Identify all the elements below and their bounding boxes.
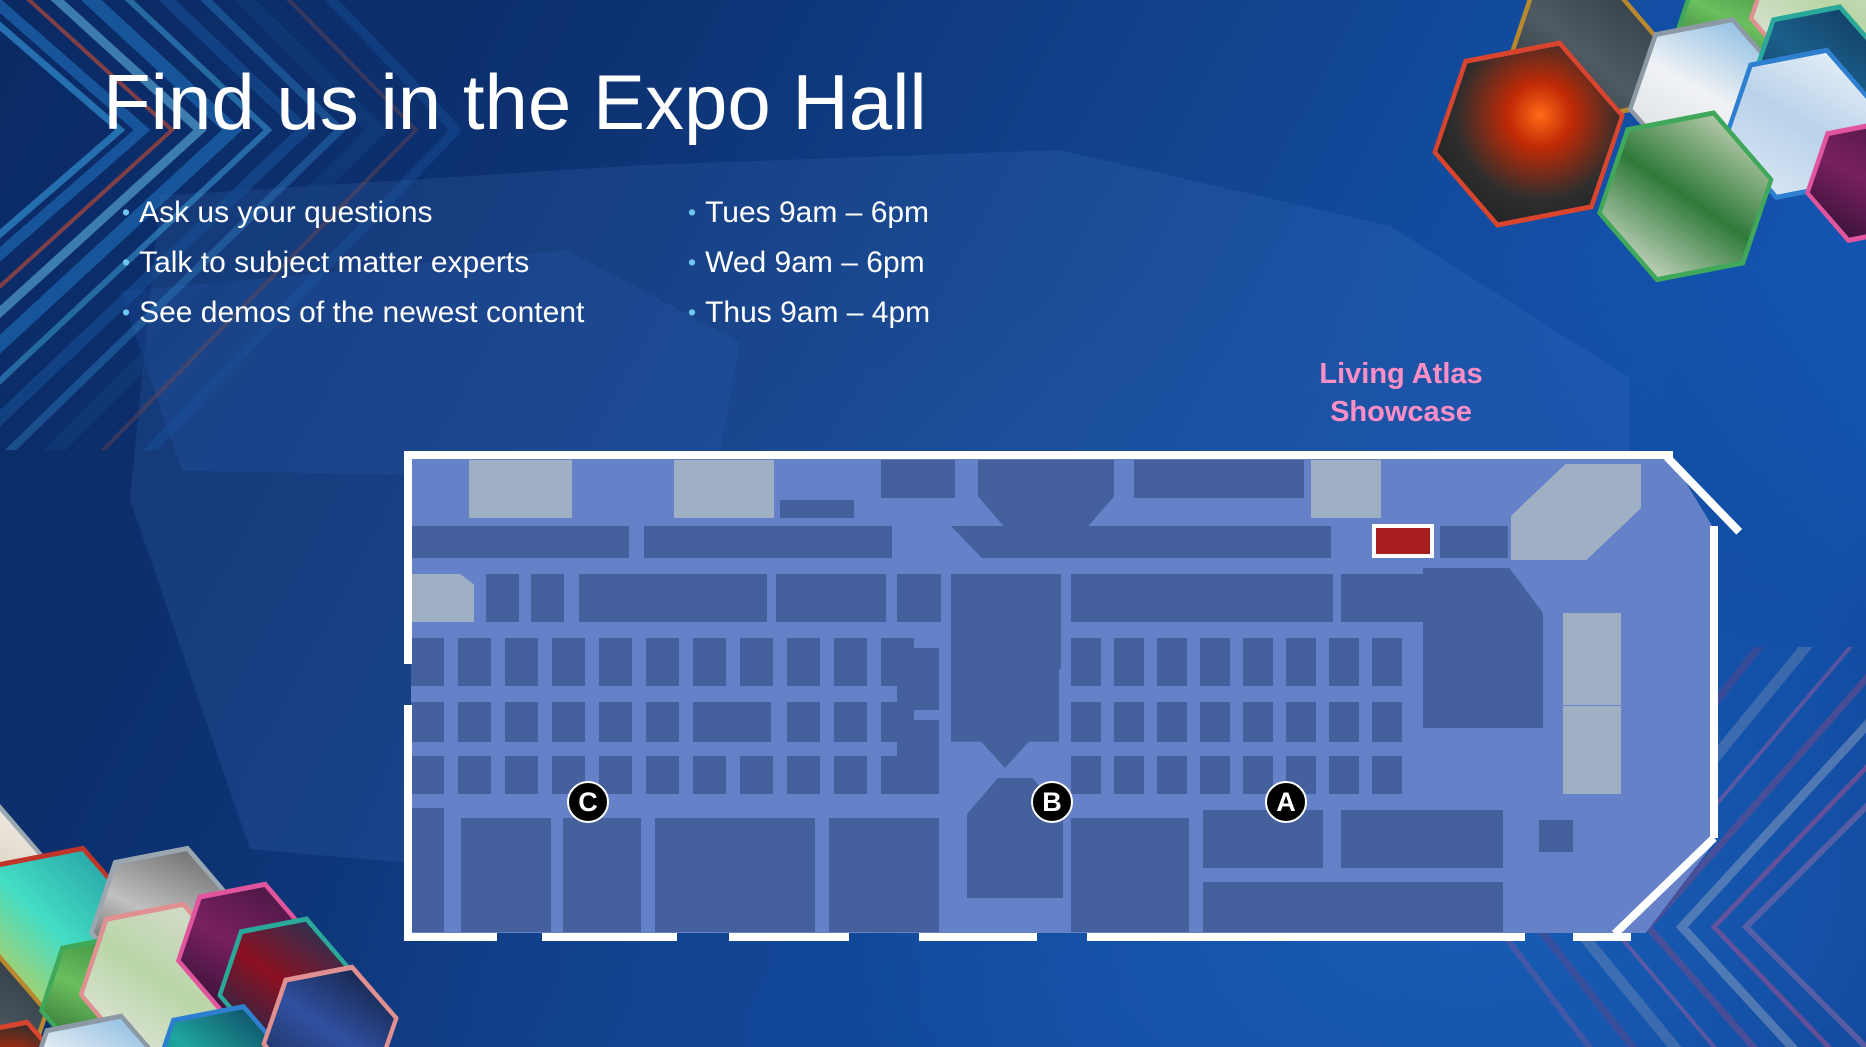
floorplan-booth	[1203, 810, 1323, 868]
list-item: • Talk to subject matter experts	[122, 246, 584, 296]
floorplan-booth	[1157, 638, 1187, 686]
floorplan-booth	[1134, 460, 1304, 498]
floorplan-booth	[1071, 756, 1101, 794]
floorplan-booth	[646, 702, 679, 742]
floorplan-booth	[1059, 526, 1331, 558]
floorplan-wall-bottom-seg-1	[404, 933, 497, 941]
bullet-column-left: • Ask us your questions • Talk to subjec…	[122, 196, 584, 346]
floorplan-booth	[579, 574, 767, 622]
floorplan-booth	[829, 818, 939, 932]
living-atlas-booth-marker[interactable]	[1372, 524, 1434, 558]
floorplan-booth	[834, 702, 867, 742]
floorplan-wall-left-lower	[404, 705, 412, 941]
floorplan-booth	[1440, 526, 1508, 558]
bullet-column-right-hours: • Tues 9am – 6pm • Wed 9am – 6pm • Thus …	[688, 196, 930, 346]
floorplan-booth	[693, 638, 726, 686]
floorplan-booth	[563, 818, 641, 932]
floorplan-booth	[1329, 756, 1359, 794]
floorplan-booth	[787, 756, 820, 794]
entrance-marker-label: B	[1042, 787, 1062, 818]
floorplan-booth	[655, 818, 815, 932]
floorplan-booth	[458, 756, 491, 794]
list-item: • See demos of the newest content	[122, 296, 584, 346]
floorplan-structure	[1563, 613, 1621, 705]
bullet-dot-icon: •	[688, 201, 696, 224]
floorplan-booth	[1329, 702, 1359, 742]
floorplan-booth	[740, 638, 773, 686]
hours-label: Thus 9am – 4pm	[705, 296, 930, 330]
entrance-marker-b[interactable]: B	[1031, 781, 1073, 823]
floorplan-booth	[644, 526, 892, 558]
floorplan-booth	[1071, 702, 1101, 742]
floorplan-wall-right	[1710, 526, 1718, 838]
floorplan-booth	[411, 638, 444, 686]
floorplan-booth	[411, 702, 444, 742]
floorplan-booth	[787, 638, 820, 686]
floorplan-booth	[411, 756, 444, 794]
floorplan-booth	[693, 756, 726, 794]
page-title: Find us in the Expo Hall	[103, 62, 927, 144]
floorplan-wall-bottom-seg-6	[1573, 933, 1631, 941]
entrance-marker-label: C	[578, 787, 598, 818]
floorplan-booth	[1286, 702, 1316, 742]
floorplan-booth	[1243, 638, 1273, 686]
bullet-dot-icon: •	[688, 251, 696, 274]
floorplan-booth	[693, 702, 771, 742]
floorplan-booth	[1539, 820, 1573, 852]
floorplan-wall-bottom-seg-5	[1087, 933, 1525, 941]
floorplan-structure	[674, 460, 774, 518]
floorplan-atrium-wedge	[897, 720, 939, 794]
list-item: • Tues 9am – 6pm	[688, 196, 930, 246]
floorplan-booth	[552, 638, 585, 686]
floorplan-booth-angled	[1423, 568, 1543, 728]
floorplan-booth	[646, 638, 679, 686]
floorplan-booth	[1200, 756, 1230, 794]
floorplan-booth	[1341, 810, 1503, 868]
floorplan-booth	[531, 574, 564, 622]
floorplan-booth	[1203, 882, 1503, 932]
floorplan-booth	[1200, 702, 1230, 742]
floorplan-booth	[1071, 574, 1333, 622]
bullet-label: See demos of the newest content	[139, 296, 584, 330]
floorplan-booth	[1157, 702, 1187, 742]
bullet-dot-icon: •	[122, 251, 130, 274]
floorplan-structure	[469, 460, 572, 518]
map-thumbnail-cluster-top-right	[1402, 0, 1866, 380]
floorplan-booth	[897, 648, 939, 710]
floorplan-booth	[780, 500, 854, 518]
map-thumbnail-cluster-bottom-left	[0, 718, 407, 1047]
floorplan-wall-bottom-seg-3	[729, 933, 849, 941]
bullet-dot-icon: •	[688, 301, 696, 324]
entrance-marker-label: A	[1276, 787, 1296, 818]
list-item: • Wed 9am – 6pm	[688, 246, 930, 296]
hours-label: Wed 9am – 6pm	[705, 246, 925, 280]
bullet-label: Ask us your questions	[139, 196, 432, 230]
floorplan-booth	[461, 818, 551, 932]
floorplan-booth	[1114, 638, 1144, 686]
floorplan-booth	[458, 702, 491, 742]
floorplan-wall-top	[405, 451, 1673, 459]
floorplan-booth	[834, 638, 867, 686]
floorplan-booth	[646, 756, 679, 794]
bullet-label: Talk to subject matter experts	[139, 246, 529, 280]
floorplan-booth	[1372, 756, 1402, 794]
floorplan-booth	[486, 574, 519, 622]
floorplan-booth	[505, 638, 538, 686]
floorplan-booth	[1243, 702, 1273, 742]
callout-line-1: Living Atlas	[1270, 355, 1532, 393]
floorplan-booth	[552, 702, 585, 742]
floorplan-booth	[881, 460, 955, 498]
floorplan-booth	[1329, 638, 1359, 686]
floorplan-booth	[1114, 756, 1144, 794]
floorplan-booth	[439, 526, 629, 558]
floorplan-booth	[599, 638, 632, 686]
floorplan-booth	[1114, 702, 1144, 742]
floorplan-structure	[1311, 460, 1381, 518]
slide-canvas: Find us in the Expo Hall • Ask us your q…	[0, 0, 1866, 1047]
floorplan-booth	[740, 756, 773, 794]
entrance-marker-c[interactable]: C	[567, 781, 609, 823]
floorplan-booth	[1372, 638, 1402, 686]
bullet-dot-icon: •	[122, 201, 130, 224]
floorplan-booth	[897, 574, 941, 622]
floorplan-booth	[834, 756, 867, 794]
callout-line-2: Showcase	[1270, 393, 1532, 431]
floorplan-wall-bottom-seg-2	[542, 933, 677, 941]
list-item: • Ask us your questions	[122, 196, 584, 246]
expo-hall-floorplan[interactable]	[411, 458, 1716, 933]
list-item: • Thus 9am – 4pm	[688, 296, 930, 346]
bullet-dot-icon: •	[122, 301, 130, 324]
floorplan-structure	[1563, 706, 1621, 794]
floorplan-booth	[458, 638, 491, 686]
floorplan-booth	[599, 702, 632, 742]
floorplan-booth	[787, 702, 820, 742]
floorplan-booth	[1071, 638, 1101, 686]
floorplan-booth	[411, 808, 444, 932]
floorplan-booth	[1157, 756, 1187, 794]
floorplan-booth	[1286, 638, 1316, 686]
floorplan-booth	[1200, 638, 1230, 686]
entrance-marker-a[interactable]: A	[1265, 781, 1307, 823]
floorplan-booth	[776, 574, 886, 622]
floorplan-booth	[505, 756, 538, 794]
floorplan-booth	[1372, 702, 1402, 742]
living-atlas-showcase-callout: Living Atlas Showcase	[1270, 355, 1532, 432]
floorplan-booth	[1071, 818, 1189, 932]
floorplan-structure	[411, 574, 474, 622]
hours-label: Tues 9am – 6pm	[705, 196, 929, 230]
floorplan-wall-left-upper	[404, 451, 412, 664]
floorplan-wall-bottom-seg-4	[919, 933, 1037, 941]
floorplan-booth	[505, 702, 538, 742]
